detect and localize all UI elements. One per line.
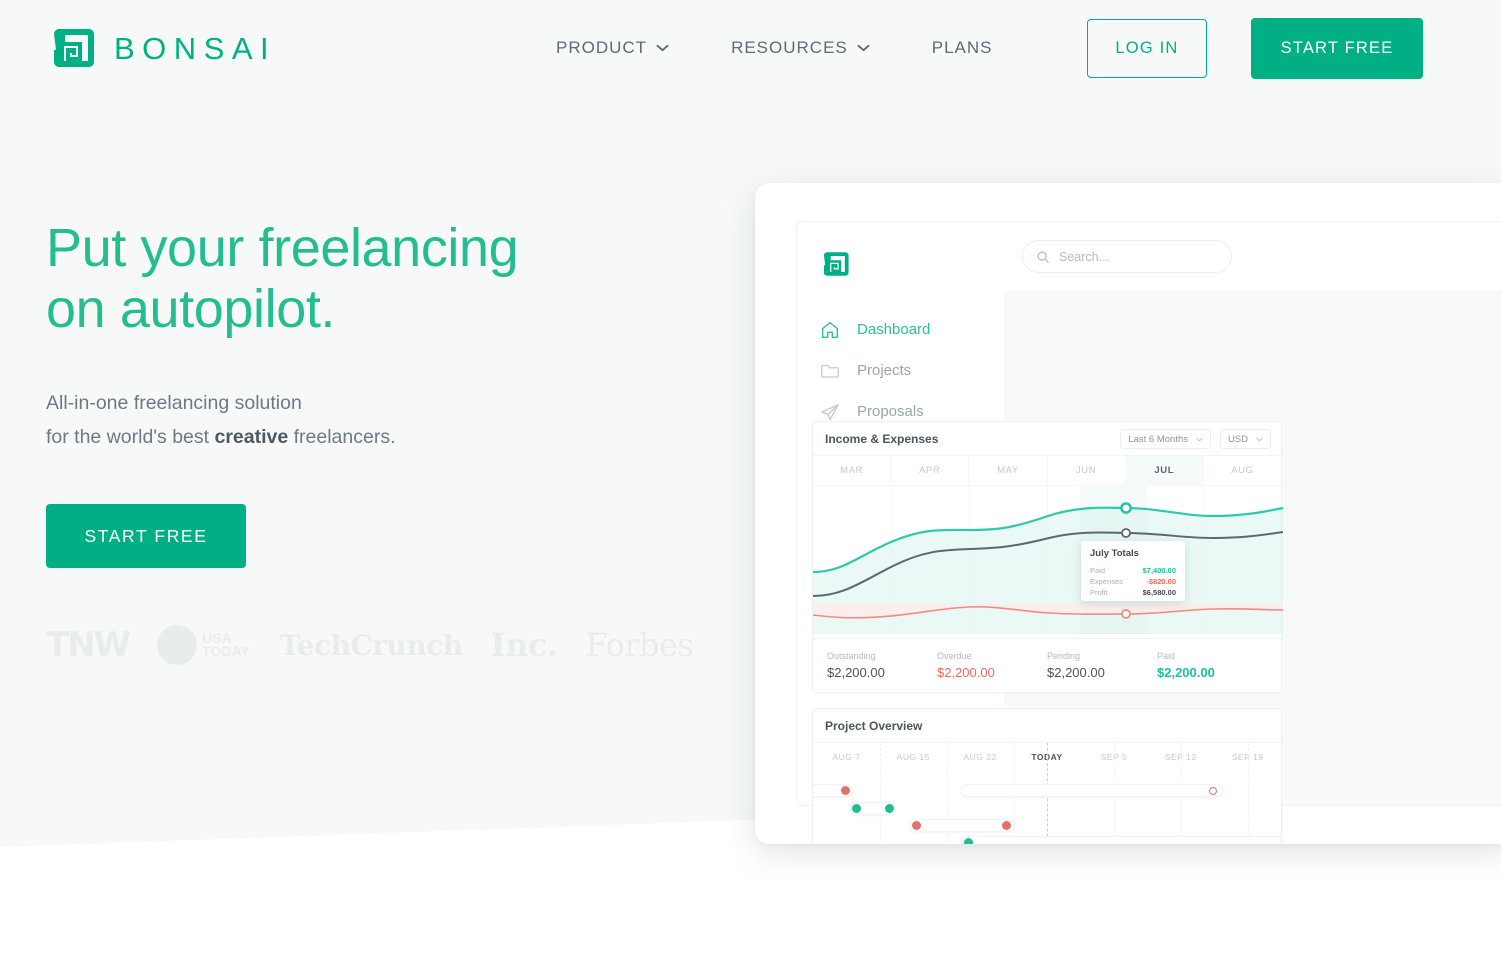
month-tick: JUN — [1048, 456, 1126, 485]
hero-sub-bold: creative — [214, 426, 288, 448]
date-range-value: Last 6 Months — [1128, 434, 1188, 445]
gantt-gridline — [880, 743, 881, 844]
inc-logo: Inc. — [491, 626, 558, 664]
project-card-title: Project Overview — [825, 719, 922, 733]
chevron-down-icon — [1256, 437, 1263, 442]
nav-item-resources[interactable]: RESOURCES — [731, 38, 870, 58]
site-header: BONSAI PRODUCT RESOURCES PLANS LOG IN ST… — [0, 0, 1501, 96]
gantt-dot-red[interactable] — [912, 821, 921, 830]
stat-value: $2,200.00 — [827, 665, 937, 680]
gantt-gridline — [1248, 743, 1249, 844]
income-expenses-chart: July Totals Paid $7,400.00 Expenses -$82… — [813, 486, 1281, 634]
stat-overdue: Overdue $2,200.00 — [937, 651, 1047, 680]
nav-item-label: PRODUCT — [556, 38, 647, 58]
gantt-chart — [813, 771, 1281, 844]
auth-actions: LOG IN START FREE — [1087, 18, 1423, 79]
income-stats-row: Outstanding $2,200.00 Overdue $2,200.00 … — [813, 638, 1281, 692]
hero-subtitle: All-in-one freelancing solution for the … — [46, 386, 686, 454]
usa-today-dot — [157, 625, 197, 665]
currency-select[interactable]: USD — [1220, 429, 1271, 449]
month-tick: APR — [891, 456, 969, 485]
tooltip-row-paid: Paid $7,400.00 — [1090, 565, 1176, 576]
chart-svg — [813, 486, 1283, 634]
income-expenses-card: Income & Expenses Last 6 Months USD MAR … — [812, 421, 1282, 693]
forbes-logo: Forbes — [586, 626, 694, 664]
usa-today-text: USA TODAY — [202, 632, 249, 658]
search-wrapper — [1022, 240, 1232, 273]
press-logos: TNW USA TODAY TechCrunch Inc. Forbes — [46, 614, 686, 676]
tooltip-value: $6,580.00 — [1143, 587, 1176, 598]
gantt-bar[interactable] — [961, 784, 1223, 797]
hero-start-free-button[interactable]: START FREE — [46, 504, 246, 568]
stat-outstanding: Outstanding $2,200.00 — [827, 651, 937, 680]
bonsai-spiral-logo-icon — [46, 22, 98, 74]
sidebar-item-label: Proposals — [857, 403, 924, 420]
nav-item-product[interactable]: PRODUCT — [556, 38, 669, 58]
tnw-logo: TNW — [46, 625, 129, 665]
brand-logo[interactable]: BONSAI — [46, 22, 276, 74]
stat-paid: Paid $2,200.00 — [1157, 651, 1267, 680]
sidebar-item-label: Dashboard — [857, 321, 930, 338]
tooltip-row-profit: Profit $6,580.00 — [1090, 587, 1176, 598]
stat-label: Overdue — [937, 651, 1047, 661]
log-in-button[interactable]: LOG IN — [1087, 19, 1207, 78]
gantt-dot-red[interactable] — [1002, 821, 1011, 830]
stat-label: Pending — [1047, 651, 1157, 661]
project-overview-card: Project Overview AUG 7 AUG 15 AUG 22 TOD… — [812, 708, 1282, 844]
gantt-bar[interactable] — [909, 819, 1014, 832]
nav-item-label: RESOURCES — [731, 38, 848, 58]
tooltip-label: Expenses — [1090, 576, 1123, 587]
month-tick: MAY — [969, 456, 1047, 485]
main-nav: PRODUCT RESOURCES PLANS — [556, 0, 993, 96]
stat-label: Outstanding — [827, 651, 937, 661]
date-tick: AUG 22 — [947, 743, 1014, 771]
month-tick-active: JUL — [1126, 456, 1204, 485]
tooltip-row-expenses: Expenses -$820.00 — [1090, 576, 1176, 587]
search-icon — [1036, 250, 1050, 264]
chart-tooltip: July Totals Paid $7,400.00 Expenses -$82… — [1081, 541, 1185, 601]
stat-value: $2,200.00 — [937, 665, 1047, 680]
bonsai-spiral-logo-icon — [819, 248, 851, 280]
chevron-down-icon — [1196, 437, 1203, 442]
gantt-dot-green[interactable] — [852, 804, 861, 813]
sidebar-item-dashboard[interactable]: Dashboard — [819, 309, 999, 350]
folder-icon — [819, 360, 841, 382]
currency-value: USD — [1228, 434, 1248, 445]
nav-item-plans[interactable]: PLANS — [932, 38, 993, 58]
gantt-bar[interactable] — [961, 836, 1282, 844]
hero-sub-post: freelancers. — [288, 426, 395, 448]
tooltip-value: $7,400.00 — [1143, 565, 1176, 576]
stat-value: $2,200.00 — [1157, 665, 1267, 680]
techcrunch-logo: TechCrunch — [280, 629, 463, 662]
project-card-header: Project Overview — [813, 709, 1281, 743]
gantt-dot-green[interactable] — [964, 838, 973, 844]
gantt-dot-red[interactable] — [841, 786, 850, 795]
hero-section: Put your freelancing on autopilot. All-i… — [46, 218, 686, 568]
month-tick: MAR — [813, 456, 891, 485]
chevron-down-icon — [656, 44, 669, 52]
date-range-select[interactable]: Last 6 Months — [1120, 429, 1211, 449]
hero-subtitle-line2: for the world's best creative freelancer… — [46, 420, 686, 454]
gantt-dot-green[interactable] — [885, 804, 894, 813]
nav-item-label: PLANS — [932, 38, 993, 58]
hero-sub-pre: for the world's best — [46, 426, 214, 448]
expenses-marker — [1122, 610, 1130, 618]
income-card-title: Income & Expenses — [825, 432, 938, 446]
date-tick: AUG 15 — [880, 743, 947, 771]
gantt-dot-hollow[interactable] — [1209, 787, 1217, 795]
stat-label: Paid — [1157, 651, 1267, 661]
paper-plane-icon — [819, 401, 841, 423]
start-free-nav-button[interactable]: START FREE — [1251, 18, 1423, 79]
page-title: Put your freelancing on autopilot. — [46, 218, 686, 340]
app-screenshot-mockup: Dashboard Projects Proposals Cont — [755, 183, 1501, 844]
tooltip-label: Profit — [1090, 587, 1108, 598]
income-card-header: Income & Expenses Last 6 Months USD — [813, 422, 1281, 456]
tooltip-title: July Totals — [1090, 548, 1176, 559]
chevron-down-icon — [857, 44, 870, 52]
sidebar-item-projects[interactable]: Projects — [819, 350, 999, 391]
home-icon — [819, 319, 841, 341]
stat-pending: Pending $2,200.00 — [1047, 651, 1157, 680]
tooltip-value: -$820.00 — [1146, 576, 1176, 587]
search-box[interactable] — [1022, 240, 1232, 273]
month-tick: AUG — [1204, 456, 1281, 485]
usa-today-logo: USA TODAY — [157, 625, 249, 665]
hero-subtitle-line1: All-in-one freelancing solution — [46, 386, 686, 420]
tooltip-label: Paid — [1090, 565, 1105, 576]
stat-value: $2,200.00 — [1047, 665, 1157, 680]
chart-month-axis: MAR APR MAY JUN JUL AUG — [813, 456, 1281, 486]
search-input[interactable] — [1059, 250, 1209, 264]
sidebar-item-label: Projects — [857, 362, 911, 379]
brand-name: BONSAI — [114, 33, 276, 64]
profit-marker — [1122, 529, 1130, 537]
date-tick: AUG 7 — [813, 743, 880, 771]
paid-marker — [1121, 503, 1130, 512]
usa-today-line2: TODAY — [202, 645, 249, 658]
